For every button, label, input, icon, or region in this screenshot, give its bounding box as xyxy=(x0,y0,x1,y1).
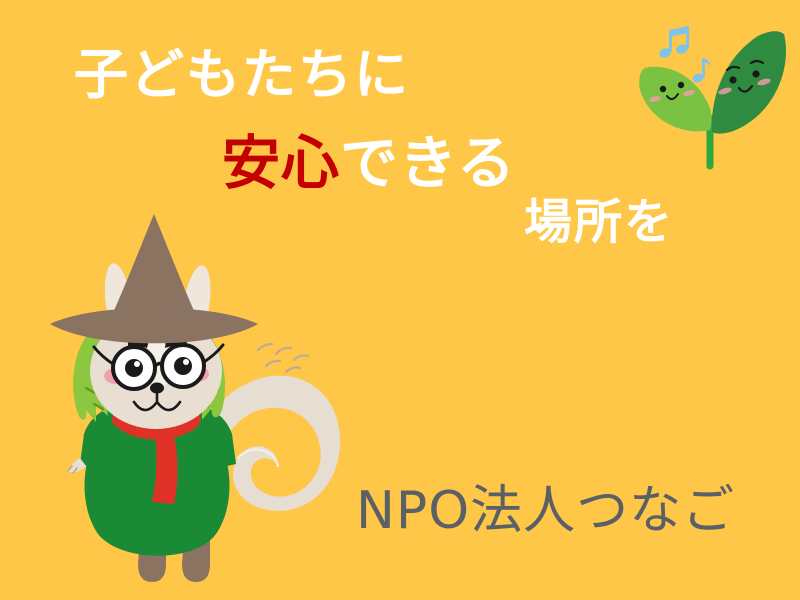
large-leaf-eye-left-icon xyxy=(729,76,736,83)
mascot-nose-icon xyxy=(150,383,164,394)
leaf-illustration xyxy=(624,18,800,178)
headline-line-3: 場所を xyxy=(524,198,674,246)
music-note-single-icon xyxy=(691,58,711,84)
headline-accent-text: 安心 xyxy=(222,129,340,197)
music-note-double-icon xyxy=(658,26,689,59)
headline-line-1: 子どもたちに xyxy=(74,48,410,102)
organization-name: NPO法人つなご xyxy=(356,468,735,543)
headline-line-2: 安心できる xyxy=(222,134,516,192)
large-leaf-eye-right-icon xyxy=(752,70,759,77)
poster-canvas: 子どもたちに 安心できる 場所を NPO法人つなご xyxy=(0,0,800,600)
mascot-illustration xyxy=(36,208,366,600)
headline-plain-text: できる xyxy=(340,129,516,197)
tail-fur-marks-icon xyxy=(258,344,308,372)
small-leaf-eye-right-icon xyxy=(678,82,684,88)
large-leaf-icon xyxy=(712,31,786,133)
small-leaf-eye-left-icon xyxy=(660,86,666,92)
mascot-hat-icon xyxy=(50,214,258,343)
